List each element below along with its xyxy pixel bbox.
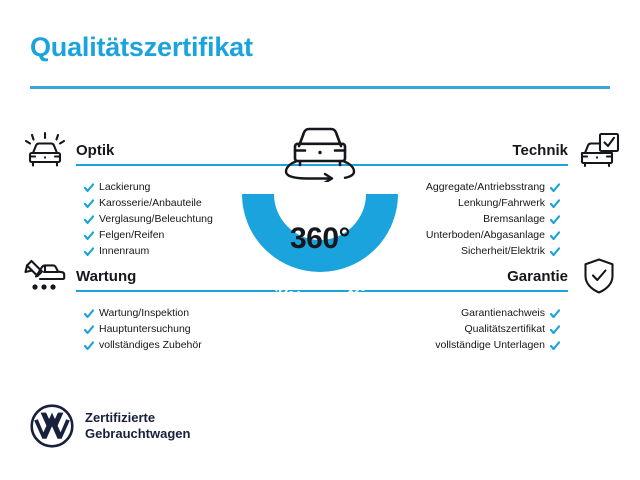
checklist-wartung: Wartung/Inspektion Hauptuntersuchung vol… — [22, 305, 322, 353]
list-item: vollständiges Zubehör — [84, 337, 322, 353]
list-item-label: Verglasung/Beleuchtung — [99, 211, 213, 227]
check-icon — [84, 246, 94, 256]
check-icon — [550, 340, 560, 350]
check-icon — [550, 230, 560, 240]
check-icon — [84, 214, 94, 224]
badge-value: 360° — [228, 222, 412, 256]
footer-line-1: Zertifizierte — [85, 410, 190, 426]
qualitaetszertifikat-page: Qualitätszertifikat Optik — [0, 0, 640, 480]
pencil-car-service-icon — [22, 256, 68, 296]
check-icon — [550, 198, 560, 208]
car-checkbox-icon — [576, 130, 622, 170]
check-icon — [84, 198, 94, 208]
check-icon — [550, 182, 560, 192]
check-icon — [550, 308, 560, 318]
check-icon — [550, 214, 560, 224]
check-icon — [84, 308, 94, 318]
list-item-label: Garantienachweis — [461, 305, 545, 321]
list-item-label: Aggregate/Antriebsstrang — [426, 179, 545, 195]
check-icon — [550, 246, 560, 256]
list-item-label: Hauptuntersuchung — [99, 321, 191, 337]
title-divider — [30, 86, 610, 89]
car-rotate-icon — [279, 120, 361, 182]
volkswagen-logo — [30, 404, 74, 448]
shield-check-icon — [576, 256, 622, 296]
check-icon — [84, 230, 94, 240]
check-icon — [84, 324, 94, 334]
list-item-label: vollständige Unterlagen — [435, 337, 545, 353]
list-item: Hauptuntersuchung — [84, 321, 322, 337]
checklist-garantie: Garantienachweis Qualitätszertifikat vol… — [322, 305, 622, 353]
list-item: Qualitätszertifikat — [322, 321, 560, 337]
check-icon — [84, 182, 94, 192]
page-title: Qualitätszertifikat — [30, 32, 253, 63]
footer-line-2: Gebrauchtwagen — [85, 426, 190, 442]
list-item-label: Wartung/Inspektion — [99, 305, 189, 321]
check-icon — [84, 340, 94, 350]
list-item-label: Qualitätszertifikat — [464, 321, 545, 337]
list-item-label: Unterboden/Abgasanlage — [426, 227, 545, 243]
car-front-lights-icon — [22, 130, 68, 170]
list-item-label: Bremsanlage — [483, 211, 545, 227]
footer-brand: Zertifizierte Gebrauchtwagen — [30, 404, 190, 448]
list-item-label: Felgen/Reifen — [99, 227, 164, 243]
list-item-label: Lackierung — [99, 179, 150, 195]
list-item-label: Lenkung/Fahrwerk — [458, 195, 545, 211]
list-item: vollständige Unterlagen — [322, 337, 560, 353]
list-item-label: Karosserie/Anbauteile — [99, 195, 202, 211]
list-item-label: vollständiges Zubehör — [99, 337, 202, 353]
badge-360-gebrauchtwagen-check: Gebrauchtwagen-Check 360° — [228, 120, 412, 310]
footer-text-wrap: Zertifizierte Gebrauchtwagen — [85, 410, 190, 442]
check-icon — [550, 324, 560, 334]
